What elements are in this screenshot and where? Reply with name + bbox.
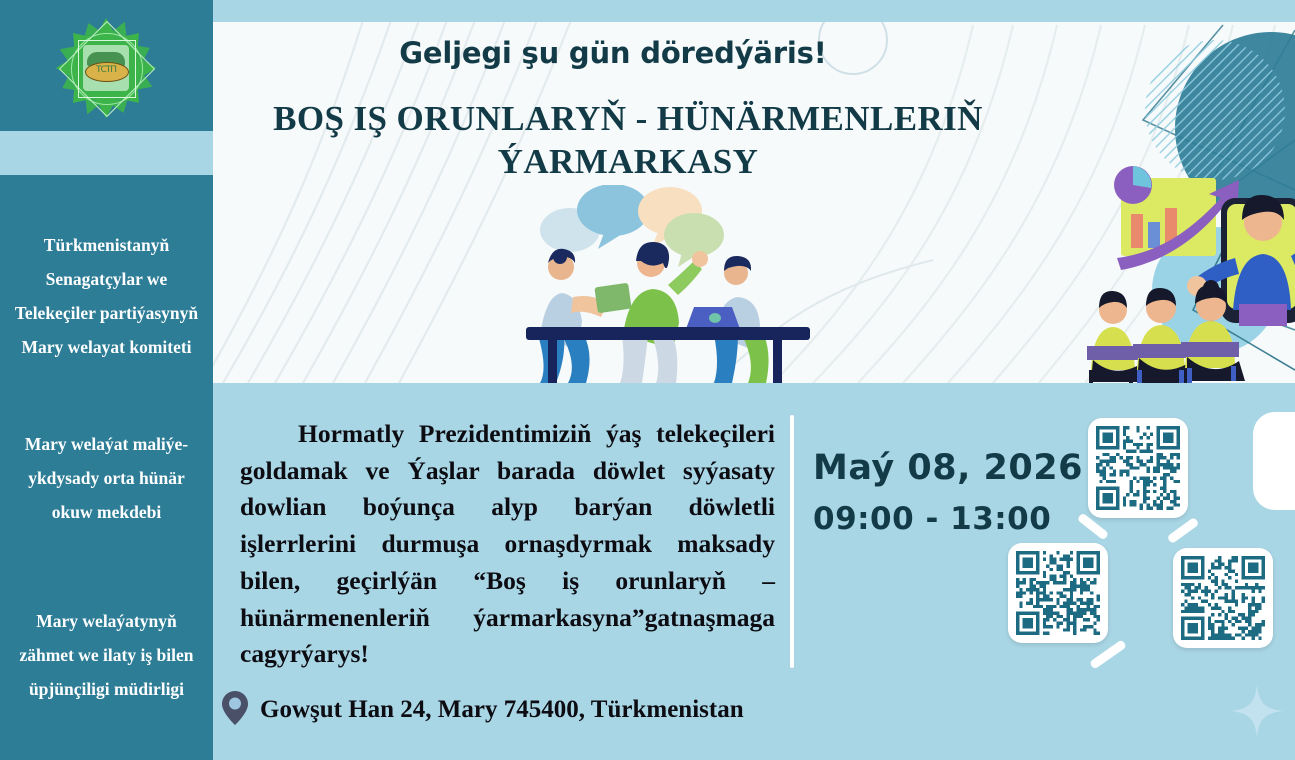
- qr-code-2[interactable]: [1008, 543, 1108, 643]
- title-line-2: ÝARMARKASY: [233, 141, 1023, 184]
- qr-connector-2: [1167, 517, 1200, 544]
- banner-circle-hatched: [1145, 40, 1285, 180]
- body-area: Hormatly Prezidentimiziň ýaş telekeçiler…: [213, 383, 1295, 760]
- headline-text: Geljegi şu gün döredýäris!: [213, 36, 1013, 70]
- sparkle-icon: [1231, 685, 1283, 737]
- sidebar-org-1: Türkmenistanyň Senagatçylar we Telekeçil…: [0, 228, 213, 365]
- poster-root: ТСТП Türkmenistanyň Senagatçylar we Tele…: [0, 0, 1295, 760]
- sidebar-info-panel: Türkmenistanyň Senagatçylar we Telekeçil…: [0, 175, 213, 760]
- online-presentation-illustration: [1081, 160, 1295, 383]
- qr-code-3[interactable]: [1173, 548, 1273, 648]
- event-address: Gowşut Han 24, Mary 745400, Türkmenistan: [260, 696, 744, 724]
- emblem-glyph-text: ТСТП: [89, 64, 123, 76]
- body-paragraph: Hormatly Prezidentimiziň ýaş telekeçiler…: [240, 416, 775, 673]
- header-banner: Geljegi şu gün döredýäris! BOŞ IŞ ORUNLA…: [213, 0, 1295, 383]
- sidebar-org-3: Mary welaýatynyň zähmet we ilaty iş bile…: [0, 604, 213, 706]
- qr-connector-3: [1089, 639, 1127, 669]
- turkmenistan-party-emblem-icon: ТСТП: [56, 18, 158, 118]
- emblem-panel: ТСТП: [0, 0, 213, 131]
- page-title: BOŞ IŞ ORUNLARYŇ - HÜNÄRMENLERIŇ ÝARMARK…: [233, 98, 1023, 183]
- qr-code-1[interactable]: [1088, 418, 1188, 518]
- vertical-divider: [790, 415, 794, 668]
- meeting-discussion-illustration: [518, 185, 818, 383]
- banner-top-strip: [213, 0, 1295, 22]
- sidebar-org-2: Mary welaýat maliýe-ykdysady orta hünär …: [0, 427, 213, 529]
- location-pin-icon: [222, 691, 248, 725]
- left-sidebar: ТСТП Türkmenistanyň Senagatçylar we Tele…: [0, 0, 213, 760]
- title-line-1: BOŞ IŞ ORUNLARYŇ - HÜNÄRMENLERIŇ: [233, 98, 1023, 141]
- qr-code-cluster: [988, 418, 1283, 663]
